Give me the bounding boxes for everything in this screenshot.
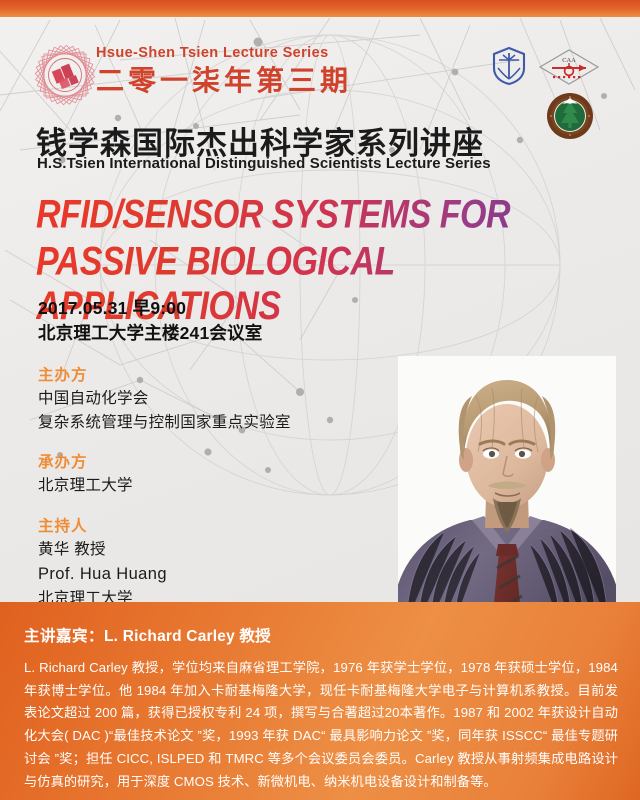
section-moderator: 主持人 黄华 教授 Prof. Hua Huang 北京理工大学	[38, 515, 291, 610]
guest-speaker-label: 主讲嘉宾：	[24, 628, 104, 645]
organization-logos: CAA	[476, 38, 616, 148]
section-undertaker-label: 承办方	[38, 451, 291, 474]
top-accent-bar	[0, 0, 640, 17]
section-moderator-label: 主持人	[38, 515, 291, 538]
section-organizer-line-2: 复杂系统管理与控制国家重点实验室	[38, 411, 291, 435]
section-organizer-line-1: 中国自动化学会	[38, 387, 291, 411]
section-organizer: 主办方 中国自动化学会 复杂系统管理与控制国家重点实验室	[38, 364, 291, 434]
lecture-series-seal-icon	[34, 44, 96, 106]
page-title-en: H.S.Tsien International Distinguished Sc…	[37, 155, 491, 172]
caa-diamond-logo-icon: CAA	[538, 48, 600, 86]
speaker-bio-panel: 主讲嘉宾：L. Richard Carley 教授 L. Richard Car…	[0, 602, 640, 800]
event-datetime: 2017.05.31 早9:00	[38, 296, 291, 321]
lab-pine-emblem-logo-icon	[546, 92, 594, 140]
series-title-block: Hsue-Shen Tsien Lecture Series 二零一柒年第三期	[96, 46, 352, 98]
guest-speaker-heading: 主讲嘉宾：L. Richard Carley 教授	[24, 624, 618, 646]
bit-shield-logo-icon	[491, 46, 527, 86]
headline-line-1: RFID/SENSOR SYSTEMS FOR	[36, 192, 632, 237]
section-undertaker: 承办方 北京理工大学	[38, 451, 291, 498]
event-venue: 北京理工大学主楼241会议室	[38, 321, 291, 346]
speaker-portrait-image	[398, 356, 616, 624]
event-info-block: 2017.05.31 早9:00 北京理工大学主楼241会议室 主办方 中国自动…	[38, 296, 291, 610]
section-organizer-label: 主办方	[38, 364, 291, 387]
section-moderator-name-cn: 黄华 教授	[38, 538, 291, 562]
guest-speaker-name: L. Richard Carley 教授	[104, 628, 271, 645]
series-title-cn: 二零一柒年第三期	[96, 64, 352, 98]
speaker-bio-text: L. Richard Carley 教授，学位均来自麻省理工学院，1976 年获…	[24, 657, 618, 793]
poster-canvas: Hsue-Shen Tsien Lecture Series 二零一柒年第三期 …	[0, 0, 640, 800]
svg-text:CAA: CAA	[562, 57, 576, 64]
section-moderator-name-en: Prof. Hua Huang	[38, 562, 291, 587]
section-undertaker-line-1: 北京理工大学	[38, 474, 291, 498]
series-title-en: Hsue-Shen Tsien Lecture Series	[96, 46, 352, 62]
speaker-portrait	[398, 356, 616, 624]
